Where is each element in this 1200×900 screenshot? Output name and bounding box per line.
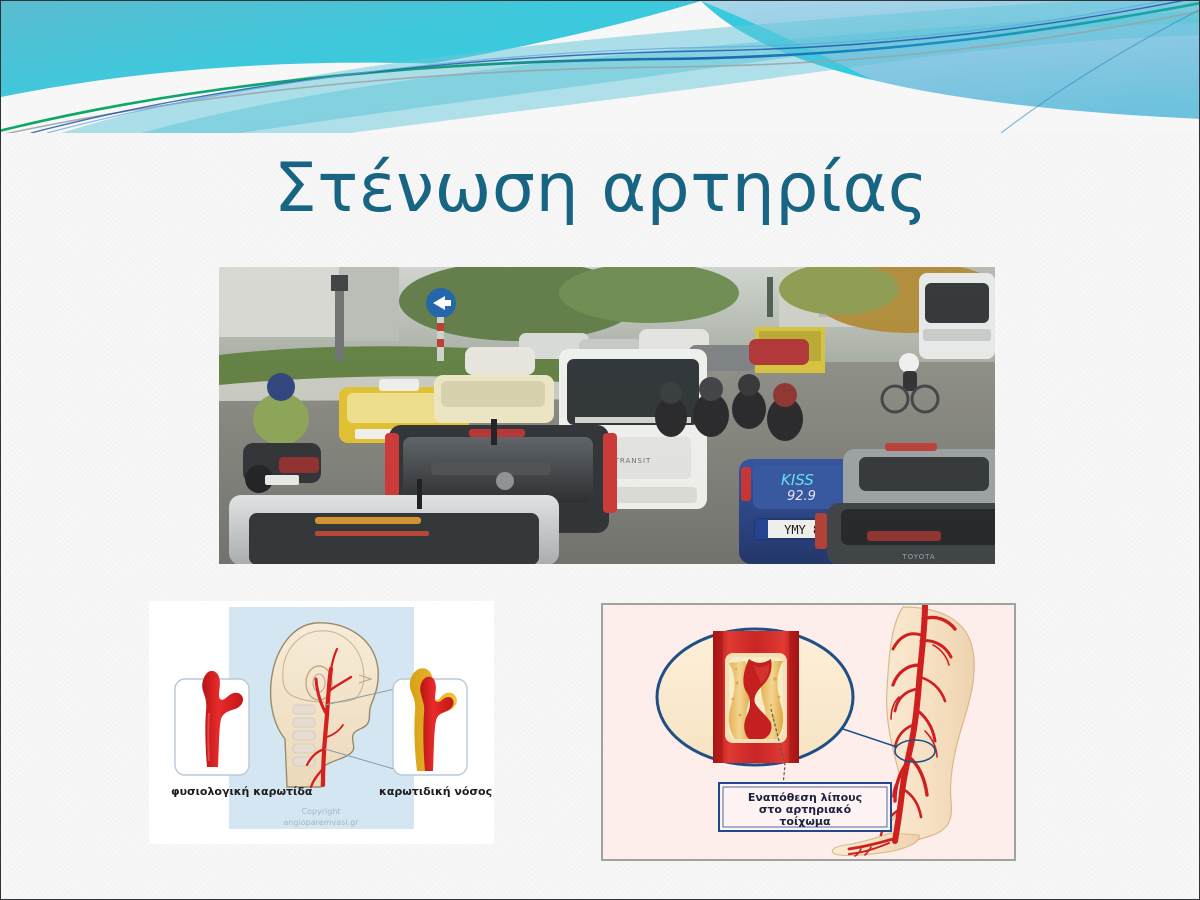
presentation-slide: Στένωση αρτηρίας — [0, 0, 1200, 900]
carotid-copyright-line2: angioparemvasi.gr — [284, 818, 360, 827]
carotid-copyright-line1: Copyright — [301, 807, 340, 816]
carotid-disease-label: καρωτιδική νόσος — [379, 785, 492, 798]
traffic-jam-photo: TRANSIT — [219, 267, 995, 564]
decorative-wave-banner — [1, 1, 1200, 133]
leg-artery-plaque-diagram: Εναπόθεση λίπους στο αρτηριακό τοίχωμα — [601, 603, 1016, 861]
carotid-normal-label: φυσιολογική καρωτίδα — [171, 785, 313, 798]
slide-title: Στένωση αρτηρίας — [1, 151, 1200, 227]
leg-callout-line3: τοίχωμα — [779, 815, 831, 828]
carotid-artery-diagram: φυσιολογική καρωτίδα καρωτιδική νόσος Co… — [149, 601, 494, 844]
